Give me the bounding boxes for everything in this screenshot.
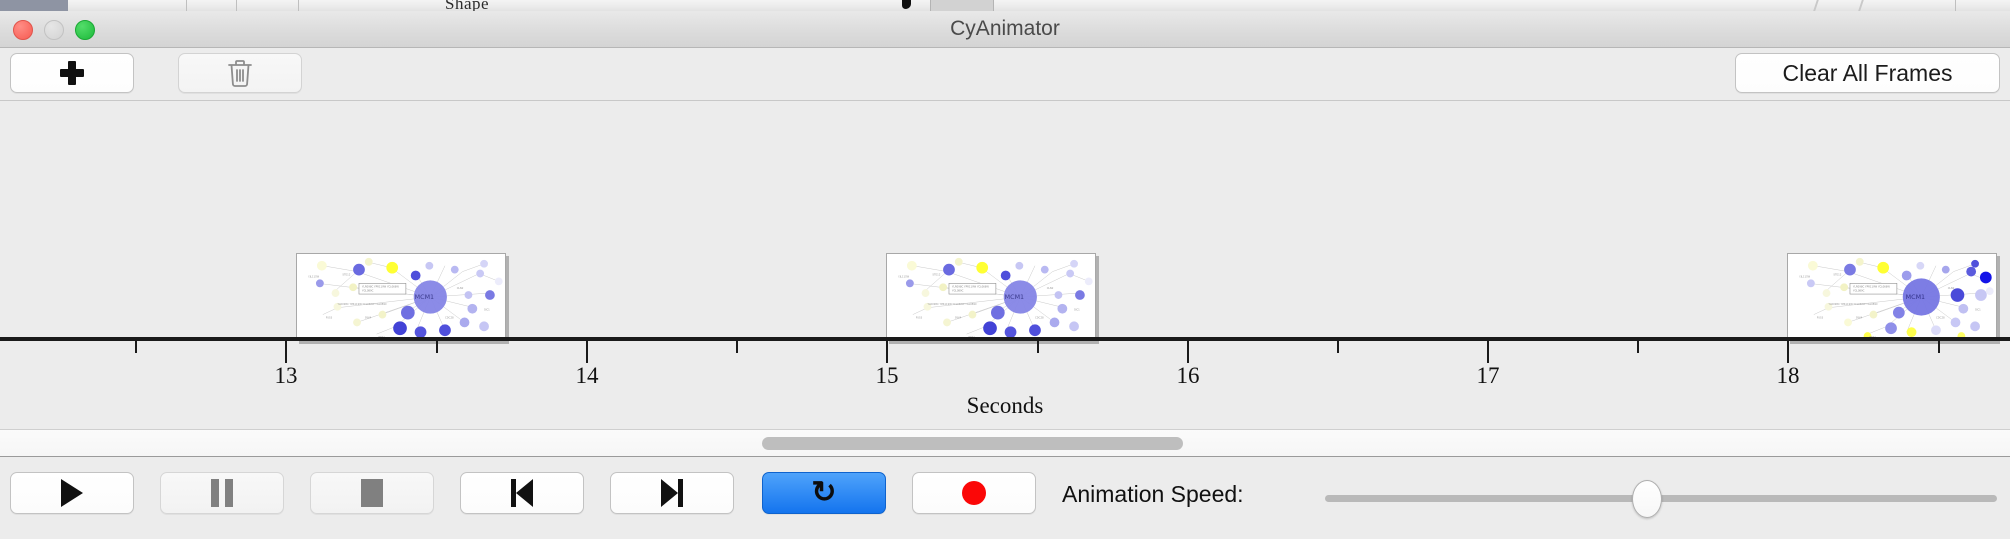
background-window-dark-panel: [0, 0, 68, 11]
svg-text:SWI4: SWI4: [955, 316, 962, 320]
ruler-tick-label: 18: [1777, 363, 1800, 389]
last-frame-button[interactable]: [610, 472, 734, 514]
timeline-panel[interactable]: YJL115W STE12 FUS3 SWI4 FAR1 CLN2 SIC1 C…: [0, 101, 2010, 430]
svg-text:CDC28: CDC28: [445, 316, 454, 320]
stop-button[interactable]: [310, 472, 434, 514]
svg-text:CLN2: CLN2: [1047, 286, 1054, 290]
svg-text:YLR098C YPR119W YCL066W YGL089: YLR098C YPR119W YCL066W YGL089C: [337, 302, 387, 306]
skip-to-start-icon: [511, 479, 533, 507]
add-frame-button[interactable]: [10, 53, 134, 93]
svg-text:YGL089C: YGL089C: [1853, 289, 1865, 293]
svg-text:MCM1: MCM1: [1906, 294, 1925, 301]
svg-text:YLR098C YPR119W YCL066W: YLR098C YPR119W YCL066W: [362, 285, 400, 289]
loop-icon: ↻: [811, 478, 836, 508]
animation-speed-slider[interactable]: [1325, 489, 1997, 507]
ruler-tick-label: 17: [1477, 363, 1500, 389]
loop-button[interactable]: ↻: [762, 472, 886, 514]
frames-track[interactable]: YJL115W STE12 FUS3 SWI4 FAR1 CLN2 SIC1 C…: [0, 101, 2010, 337]
record-button[interactable]: [912, 472, 1036, 514]
play-button[interactable]: [10, 472, 134, 514]
svg-text:CDC28: CDC28: [1035, 316, 1044, 320]
svg-text:STE12: STE12: [342, 273, 350, 277]
ruler-tick-major: [1787, 341, 1789, 363]
svg-text:SIC1: SIC1: [1074, 308, 1080, 312]
ruler-tick-major: [1487, 341, 1489, 363]
record-icon: [962, 481, 986, 505]
ruler-tick-label: 16: [1177, 363, 1200, 389]
ruler-tick-minor: [736, 341, 738, 353]
background-window-strip: Shape: [0, 0, 2010, 11]
network-graph-thumbnail: YJL115W STE12 FUS3 SWI4 FAR1 CLN2 SIC1 C…: [297, 254, 505, 340]
svg-text:MCM1: MCM1: [415, 294, 434, 301]
toolbar: Clear All Frames: [0, 48, 2010, 101]
ruler-tick-major: [586, 341, 588, 363]
play-icon: [61, 479, 83, 507]
first-frame-button[interactable]: [460, 472, 584, 514]
svg-text:YGL089C: YGL089C: [952, 289, 964, 293]
pause-icon: [211, 479, 233, 507]
svg-text:STE12: STE12: [932, 273, 940, 277]
timeline-scrollbar[interactable]: [0, 430, 2010, 457]
ruler-tick-label: 13: [275, 363, 298, 389]
svg-text:SWI4: SWI4: [365, 316, 372, 320]
svg-text:FUS3: FUS3: [1817, 316, 1824, 320]
stop-icon: [361, 479, 383, 507]
pause-button[interactable]: [160, 472, 284, 514]
svg-text:SWI4: SWI4: [1856, 316, 1863, 320]
svg-text:YLR098C YPR119W YCL066W YGL089: YLR098C YPR119W YCL066W YGL089C: [927, 302, 977, 306]
svg-text:SIC1: SIC1: [1975, 308, 1981, 312]
background-divider: [1955, 0, 1956, 11]
svg-text:CLN2: CLN2: [457, 286, 464, 290]
ruler-tick-minor: [1637, 341, 1639, 353]
background-cursor-glyph: [902, 0, 911, 9]
skip-to-end-icon: [661, 479, 683, 507]
background-divider: [1858, 0, 1864, 11]
ruler-tick-label: 14: [576, 363, 599, 389]
svg-text:SIC1: SIC1: [484, 308, 490, 312]
animation-speed-label: Animation Speed:: [1062, 481, 1244, 508]
timeline-frame[interactable]: YJL115W STE12 FUS3 SWI4 FAR1 CLN2 SIC1 C…: [1787, 253, 1997, 341]
clear-all-frames-button[interactable]: Clear All Frames: [1735, 53, 2000, 93]
timeline-axis-label: Seconds: [0, 393, 2010, 419]
svg-text:CDC28: CDC28: [1936, 316, 1945, 320]
network-graph-thumbnail: YJL115W STE12 FUS3 SWI4 FAR1 CLN2 SIC1 C…: [1788, 254, 1996, 340]
ruler-tick-minor: [436, 341, 438, 353]
background-divider: [186, 0, 187, 11]
svg-text:YGL089C: YGL089C: [362, 289, 374, 293]
ruler-tick-major: [886, 341, 888, 363]
svg-text:FUS3: FUS3: [916, 316, 923, 320]
timeline-frame[interactable]: YJL115W STE12 FUS3 SWI4 FAR1 CLN2 SIC1 C…: [296, 253, 506, 341]
ruler-tick-minor: [1938, 341, 1940, 353]
ruler-baseline: [0, 337, 2010, 341]
network-graph-thumbnail: YJL115W STE12 FUS3 SWI4 FAR1 CLN2 SIC1 C…: [887, 254, 1095, 340]
svg-text:FUS3: FUS3: [326, 316, 333, 320]
svg-text:YJL115W: YJL115W: [308, 274, 320, 278]
trash-icon: [225, 57, 255, 89]
ruler-tick-minor: [135, 341, 137, 353]
ruler-tick-minor: [1037, 341, 1039, 353]
background-window-button: [930, 0, 994, 11]
ruler-tick-major: [285, 341, 287, 363]
timeline-frame[interactable]: YJL115W STE12 FUS3 SWI4 FAR1 CLN2 SIC1 C…: [886, 253, 1096, 341]
background-window-label: Shape: [445, 0, 489, 11]
svg-text:MCM1: MCM1: [1005, 294, 1024, 301]
plus-icon: [59, 60, 85, 86]
background-divider: [236, 0, 237, 11]
svg-text:YJL115W: YJL115W: [898, 274, 910, 278]
svg-text:YLR098C YPR119W YCL066W YGL089: YLR098C YPR119W YCL066W YGL089C: [1828, 302, 1878, 306]
svg-text:YLR098C YPR119W YCL066W: YLR098C YPR119W YCL066W: [952, 285, 990, 289]
ruler-tick-major: [1187, 341, 1189, 363]
scrollbar-thumb[interactable]: [762, 437, 1183, 450]
playback-toolbar: ↻ Animation Speed:: [0, 457, 2010, 539]
clear-all-frames-label: Clear All Frames: [1783, 60, 1953, 87]
window-title: CyAnimator: [0, 17, 2010, 41]
slider-thumb[interactable]: [1632, 480, 1662, 518]
svg-text:YJL115W: YJL115W: [1799, 274, 1811, 278]
timeline-ruler[interactable]: 12 13 14 15 16 17 18 Seconds: [0, 337, 2010, 429]
ruler-tick-minor: [1337, 341, 1339, 353]
background-divider: [1813, 0, 1819, 11]
svg-text:YLR098C YPR119W YCL066W: YLR098C YPR119W YCL066W: [1853, 285, 1891, 289]
delete-frame-button[interactable]: [178, 53, 302, 93]
background-divider: [298, 0, 299, 11]
svg-text:STE12: STE12: [1833, 273, 1841, 277]
title-bar: CyAnimator: [0, 11, 2010, 48]
cyanimator-window: CyAnimator Clear All Frames: [0, 11, 2010, 510]
ruler-tick-label: 15: [876, 363, 899, 389]
svg-text:CLN2: CLN2: [1948, 286, 1955, 290]
